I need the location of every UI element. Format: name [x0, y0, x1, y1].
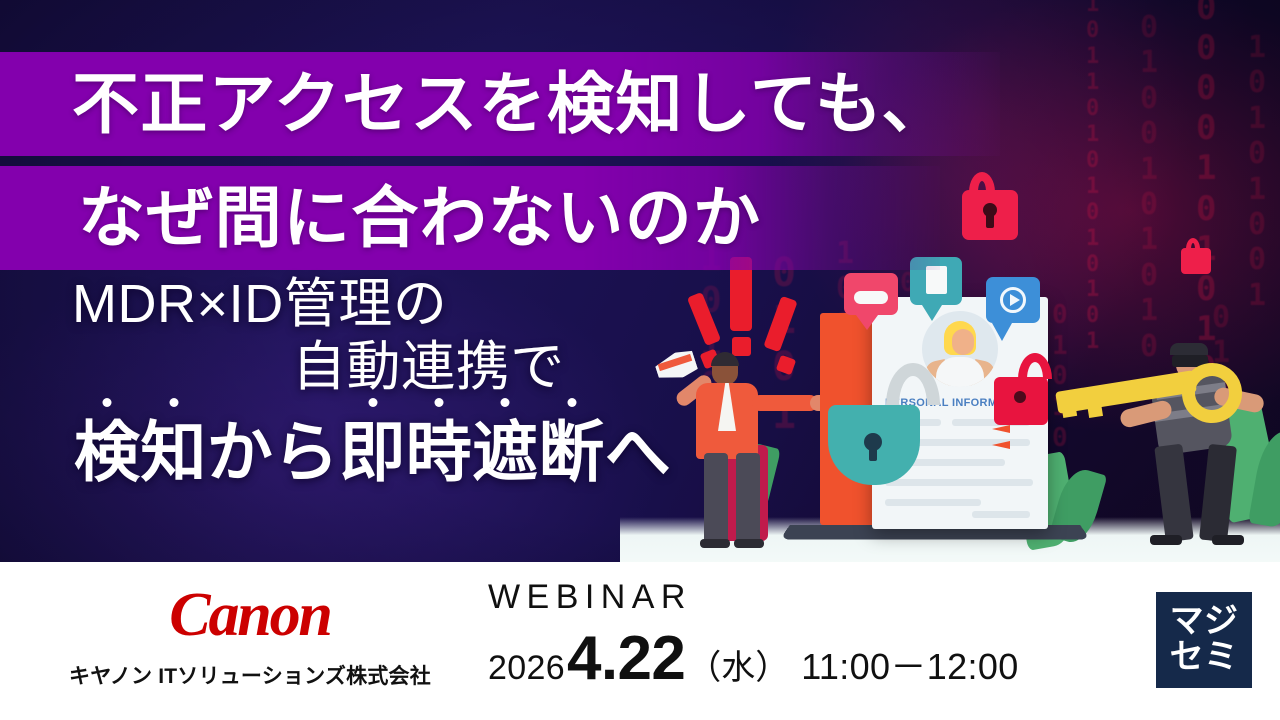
chat-bubble-tail: [856, 315, 878, 330]
padlock-keyhole-icon: [1014, 391, 1026, 403]
canon-logo-block: Canon キヤノン ITソリューションズ株式会社: [55, 584, 445, 690]
subtitle-line3-char: 即: [339, 418, 405, 488]
card-placeholder-line: [885, 499, 981, 506]
title-bar-line1: 不正アクセスを検知しても、: [0, 52, 1000, 156]
webinar-date: 2026 4.22 （水） 11:00－12:00: [488, 628, 1019, 690]
play-bubble-icon: [986, 277, 1040, 323]
avatar-face: [952, 329, 974, 355]
play-triangle-icon: [1010, 294, 1020, 306]
subtitle-line3-char: ら: [273, 415, 339, 489]
subtitle-block: MDR×ID管理の 自動連携で 検知から即時遮断へ: [0, 276, 730, 488]
title-line2: なぜ間に合わないのか: [0, 185, 761, 252]
subtitle-line3-char: 断: [538, 418, 604, 488]
megaphone-man-leg: [736, 453, 760, 545]
footer: Canon キヤノン ITソリューションズ株式会社 WEBINAR 2026 4…: [0, 562, 1280, 720]
document-icon: [926, 266, 947, 294]
megaphone-man-shoe: [734, 539, 764, 548]
subtitle-line3-char: へ: [605, 415, 671, 489]
subtitle-line3-char: か: [207, 415, 273, 489]
majisemi-logo-line2: セミ: [1170, 640, 1239, 676]
subtitle-line3: 検知から即時遮断へ: [0, 418, 730, 488]
subtitle-line3-char: 知: [140, 418, 206, 488]
title-line1: 不正アクセスを検知しても、: [0, 71, 950, 138]
subtitle-line3-char: 時: [406, 418, 472, 488]
chat-bubble-icon: [844, 273, 898, 315]
key-icon-tooth: [1087, 402, 1103, 418]
majisemi-logo-badge[interactable]: マジ セミ: [1156, 592, 1252, 688]
document-bubble-tail: [922, 305, 942, 321]
webinar-year: 2026: [488, 651, 565, 685]
title-bar-line2: なぜ間に合わないのか: [0, 166, 940, 270]
exclamation-mark-icon: [776, 355, 797, 376]
avatar: [922, 311, 998, 387]
subtitle-line1: MDR×ID管理の: [0, 276, 730, 333]
subtitle-line3-char: 検: [74, 418, 140, 488]
chat-dots-icon: [854, 291, 888, 304]
webinar-label: WEBINAR: [488, 580, 1019, 614]
megaphone-man-shoe: [700, 539, 730, 548]
padlock-keyhole-stem: [869, 447, 877, 461]
megaphone-man-arm-pointing: [752, 395, 818, 411]
exclamation-mark-icon: [732, 337, 751, 356]
card-placeholder-line: [885, 479, 1033, 486]
exclamation-mark-icon: [763, 296, 797, 353]
canon-logo: Canon: [55, 584, 445, 646]
avatar-shirt: [936, 357, 984, 387]
webinar-info: WEBINAR 2026 4.22 （水） 11:00－12:00: [488, 580, 1019, 690]
play-bubble-tail: [992, 323, 1012, 341]
majisemi-logo-line1: マジ: [1170, 604, 1239, 640]
webinar-day: 4.22: [567, 628, 685, 690]
canon-company-name: キヤノン ITソリューションズ株式会社: [55, 660, 445, 690]
thief-shoe: [1212, 535, 1244, 545]
subtitle-line3-char: 遮: [472, 418, 538, 488]
webinar-day-of-week: （水）: [687, 651, 789, 685]
thief-hat-icon: [1170, 343, 1208, 355]
subtitle-line2: 自動連携で: [0, 339, 730, 396]
webinar-time: 11:00－12:00: [801, 649, 1018, 685]
key-icon-tooth: [1061, 400, 1077, 418]
webinar-banner: 1 0 1 1 0 1 0 1 0 1 0 1 0 10 1 0 0 1 0 1…: [0, 0, 1280, 720]
padlock-keyhole-stem: [986, 214, 994, 228]
thief-shoe: [1150, 535, 1182, 545]
open-padlock-icon-small: [1181, 248, 1211, 274]
card-placeholder-line: [972, 511, 1030, 518]
